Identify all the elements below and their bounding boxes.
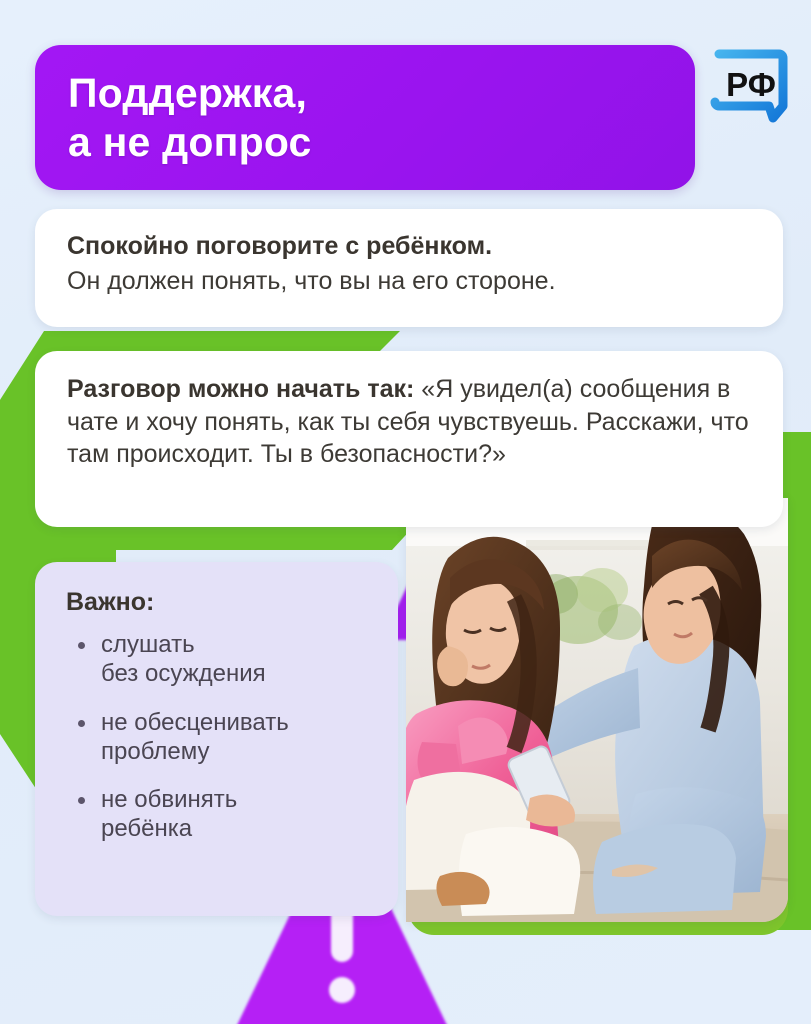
poster-header: Поддержка, а не допрос xyxy=(35,45,695,190)
card-important-list: слушать без осуждения не обесценивать пр… xyxy=(66,630,380,844)
card-calm-talk-sub: Он должен понять, что вы на его стороне. xyxy=(67,265,753,298)
list-item: не обвинять ребёнка xyxy=(66,785,380,844)
rf-logo[interactable]: РФ xyxy=(707,44,795,136)
list-item: слушать без осуждения xyxy=(66,630,380,689)
green-bar-middle xyxy=(56,524,416,550)
card-conversation-starter: Разговор можно начать так: «Я увидел(а) … xyxy=(35,351,783,527)
card-conversation-text: Разговор можно начать так: «Я увидел(а) … xyxy=(67,373,757,471)
card-conversation-lead: Разговор можно начать так: xyxy=(67,375,414,403)
card-calm-talk-lead: Спокойно поговорите с ребёнком. xyxy=(67,231,753,262)
rf-logo-text: РФ xyxy=(726,66,776,103)
card-calm-talk: Спокойно поговорите с ребёнком. Он долже… xyxy=(35,209,783,327)
card-important: Важно: слушать без осуждения не обесцени… xyxy=(35,562,398,916)
infographic-poster: Поддержка, а не допрос РФ Спокойно погов… xyxy=(0,0,811,1024)
page-title: Поддержка, а не допрос xyxy=(35,69,312,166)
photo-girl-and-mother xyxy=(406,498,788,922)
list-item: не обесценивать проблему xyxy=(66,708,380,767)
card-important-title: Важно: xyxy=(66,588,380,617)
